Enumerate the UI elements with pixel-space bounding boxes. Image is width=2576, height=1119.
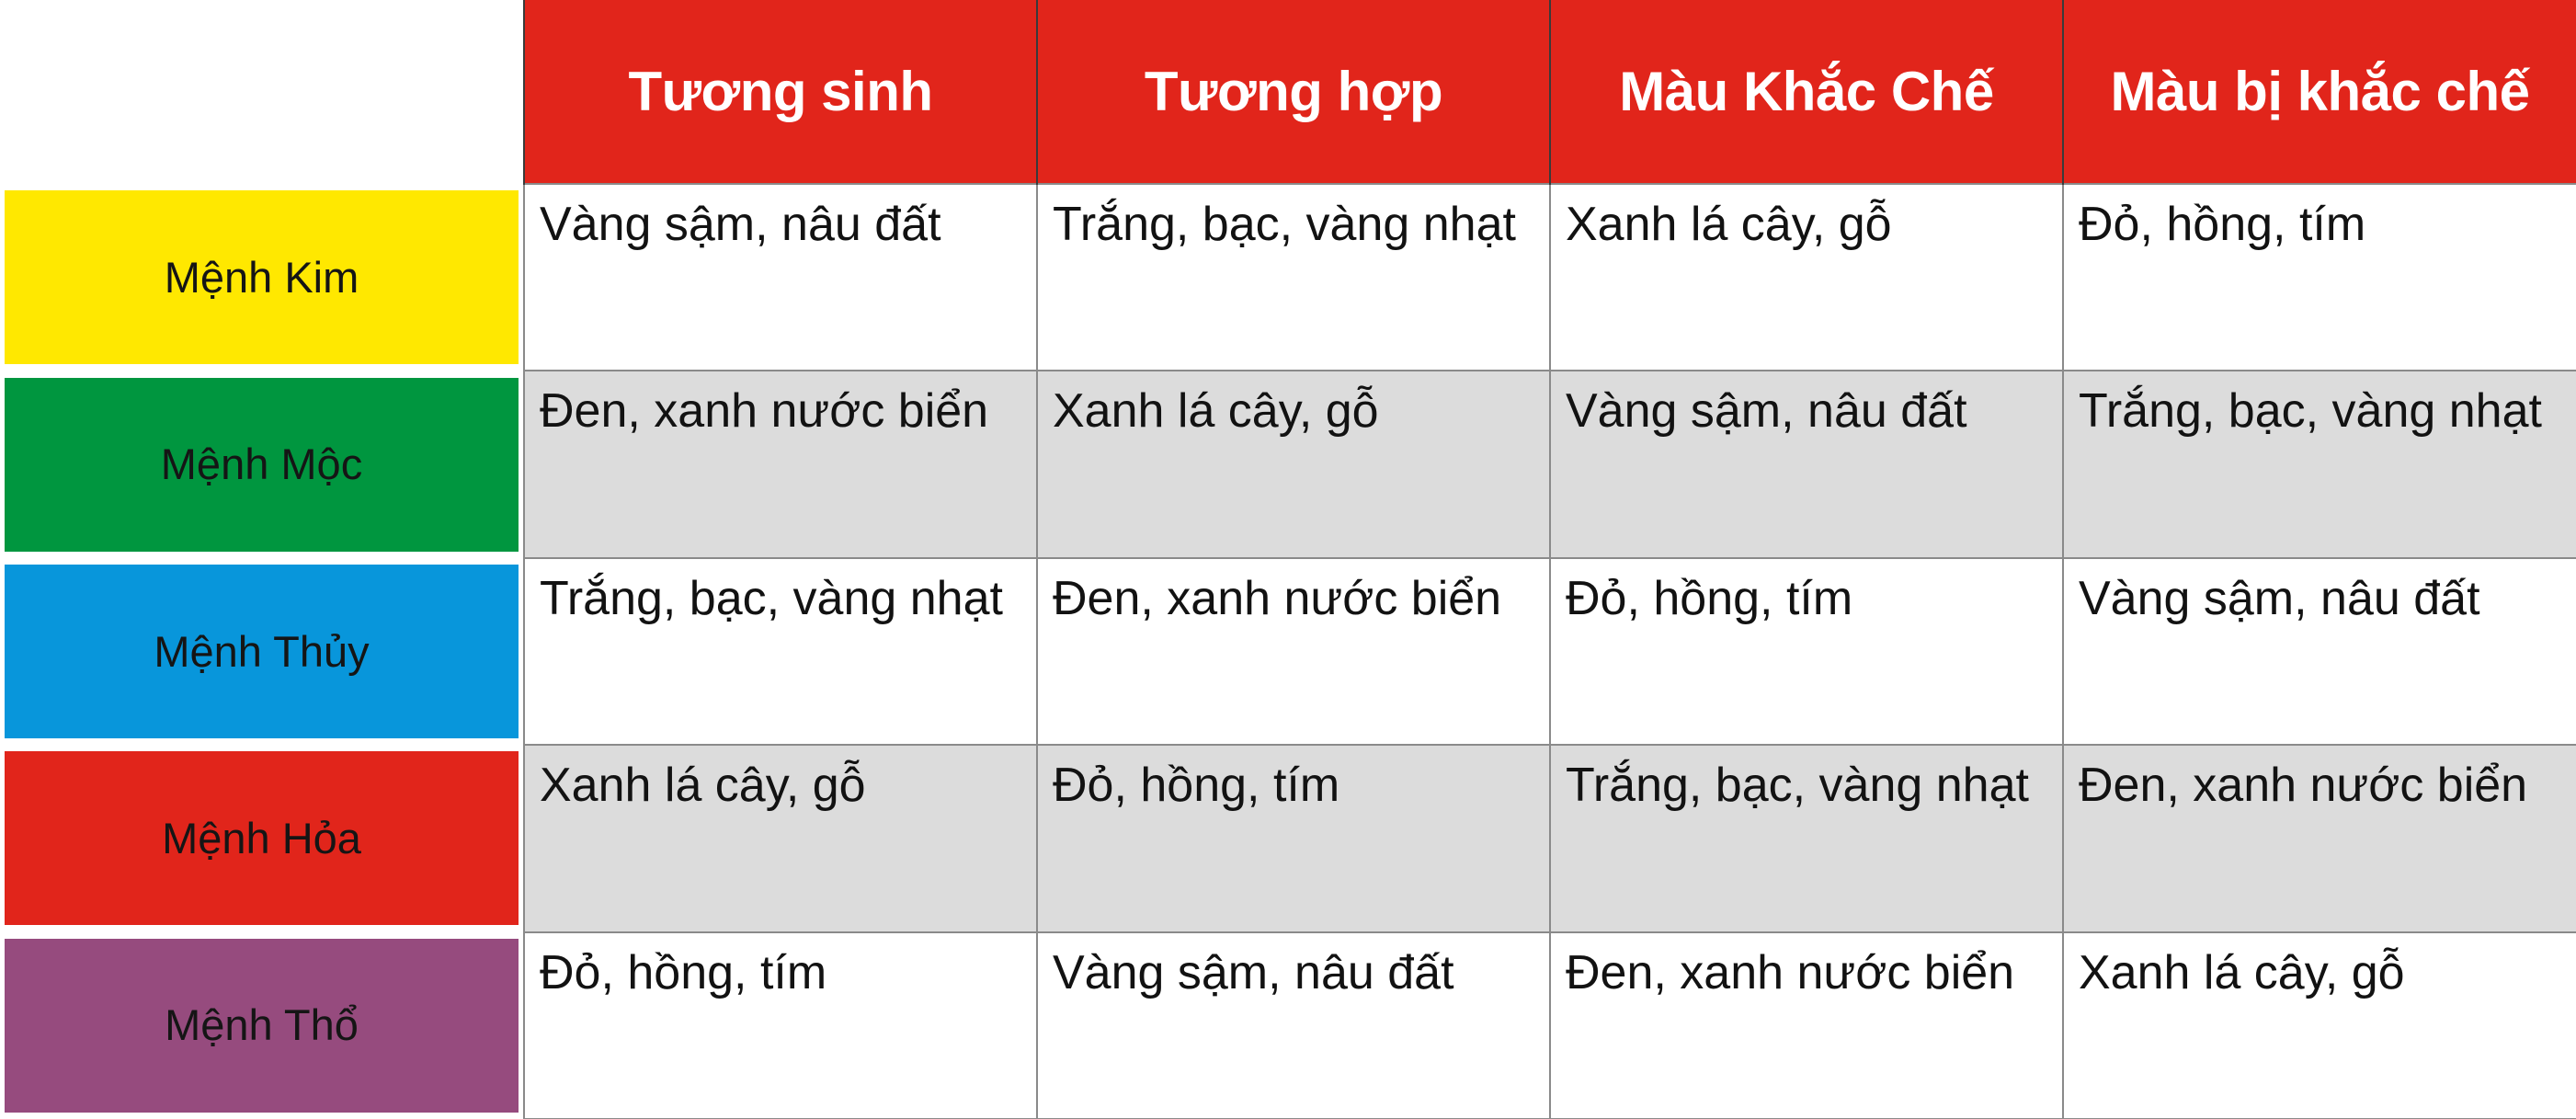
color-swatch-thuy: Mệnh Thủy: [5, 565, 519, 738]
table-row: Mệnh Thổ Đỏ, hồng, tím Vàng sậm, nâu đất…: [0, 932, 2576, 1119]
element-name-kim: Mệnh Kim: [165, 254, 359, 302]
cell-kim-khac-che: Xanh lá cây, gỗ: [1550, 184, 2063, 371]
element-label-cell-tho: Mệnh Thổ: [0, 932, 524, 1119]
color-swatch-tho: Mệnh Thổ: [5, 939, 519, 1113]
color-swatch-hoa: Mệnh Hỏa: [5, 751, 519, 925]
color-swatch-moc: Mệnh Mộc: [5, 378, 519, 552]
element-label-cell-moc: Mệnh Mộc: [0, 371, 524, 557]
element-name-hoa: Mệnh Hỏa: [162, 815, 361, 862]
table-row: Mệnh Hỏa Xanh lá cây, gỗ Đỏ, hồng, tím T…: [0, 745, 2576, 931]
element-name-tho: Mệnh Thổ: [165, 1001, 359, 1049]
column-header-mau-bi-khac-che: Màu bị khắc chế: [2063, 0, 2576, 184]
cell-tho-tuong-hop: Vàng sậm, nâu đất: [1037, 932, 1550, 1119]
five-elements-color-table: Tương sinh Tương hợp Màu Khắc Chế Màu bị…: [0, 0, 2576, 1119]
table-row: Mệnh Thủy Trắng, bạc, vàng nhạt Đen, xan…: [0, 558, 2576, 745]
column-header-tuong-sinh: Tương sinh: [524, 0, 1037, 184]
cell-tho-khac-che: Đen, xanh nước biển: [1550, 932, 2063, 1119]
cell-hoa-khac-che: Trắng, bạc, vàng nhạt: [1550, 745, 2063, 931]
element-name-thuy: Mệnh Thủy: [154, 628, 369, 676]
cell-moc-khac-che: Vàng sậm, nâu đất: [1550, 371, 2063, 557]
cell-kim-tuong-hop: Trắng, bạc, vàng nhạt: [1037, 184, 1550, 371]
cell-hoa-bi-khac-che: Đen, xanh nước biển: [2063, 745, 2576, 931]
table-row: Mệnh Mộc Đen, xanh nước biển Xanh lá cây…: [0, 371, 2576, 557]
corner-cell: [0, 0, 524, 184]
element-name-moc: Mệnh Mộc: [161, 440, 362, 488]
cell-tho-bi-khac-che: Xanh lá cây, gỗ: [2063, 932, 2576, 1119]
header-row: Tương sinh Tương hợp Màu Khắc Chế Màu bị…: [0, 0, 2576, 184]
cell-moc-tuong-sinh: Đen, xanh nước biển: [524, 371, 1037, 557]
color-swatch-kim: Mệnh Kim: [5, 190, 519, 364]
cell-hoa-tuong-sinh: Xanh lá cây, gỗ: [524, 745, 1037, 931]
cell-thuy-tuong-hop: Đen, xanh nước biển: [1037, 558, 1550, 745]
cell-thuy-bi-khac-che: Vàng sậm, nâu đất: [2063, 558, 2576, 745]
table-body: Mệnh Kim Vàng sậm, nâu đất Trắng, bạc, v…: [0, 184, 2576, 1119]
cell-moc-tuong-hop: Xanh lá cây, gỗ: [1037, 371, 1550, 557]
cell-thuy-tuong-sinh: Trắng, bạc, vàng nhạt: [524, 558, 1037, 745]
element-label-cell-thuy: Mệnh Thủy: [0, 558, 524, 745]
table-row: Mệnh Kim Vàng sậm, nâu đất Trắng, bạc, v…: [0, 184, 2576, 371]
cell-tho-tuong-sinh: Đỏ, hồng, tím: [524, 932, 1037, 1119]
table-header: Tương sinh Tương hợp Màu Khắc Chế Màu bị…: [0, 0, 2576, 184]
cell-kim-bi-khac-che: Đỏ, hồng, tím: [2063, 184, 2576, 371]
element-label-cell-kim: Mệnh Kim: [0, 184, 524, 371]
column-header-tuong-hop: Tương hợp: [1037, 0, 1550, 184]
column-header-mau-khac-che: Màu Khắc Chế: [1550, 0, 2063, 184]
cell-hoa-tuong-hop: Đỏ, hồng, tím: [1037, 745, 1550, 931]
cell-kim-tuong-sinh: Vàng sậm, nâu đất: [524, 184, 1037, 371]
cell-thuy-khac-che: Đỏ, hồng, tím: [1550, 558, 2063, 745]
element-label-cell-hoa: Mệnh Hỏa: [0, 745, 524, 931]
cell-moc-bi-khac-che: Trắng, bạc, vàng nhạt: [2063, 371, 2576, 557]
